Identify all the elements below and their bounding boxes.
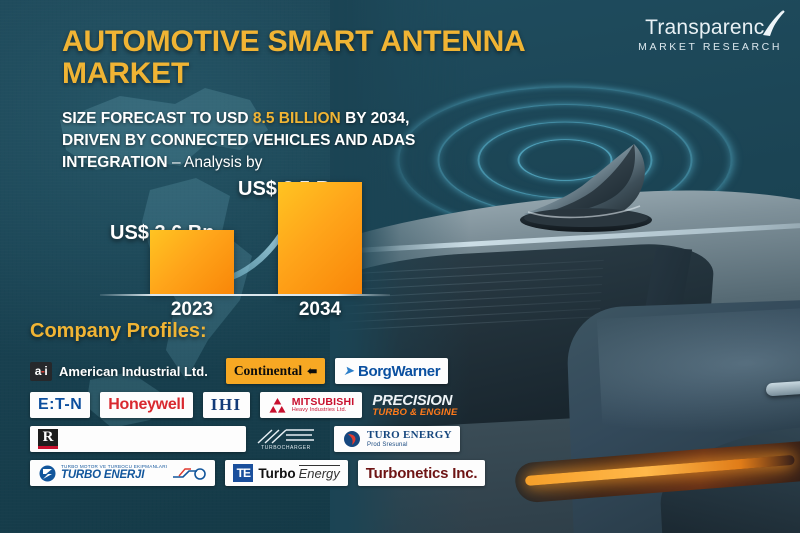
logo-label-borgwarner: BorgWarner [358, 363, 440, 380]
logo-turbo-enerji[interactable]: TURBO MOTOR VE TURBOCU EKIPMANLARI TURBO… [30, 460, 215, 486]
bar-2034 [278, 182, 362, 294]
subtitle-part-1: SIZE FORECAST TO USD [62, 110, 253, 127]
logo-turbonetics[interactable]: Turbonetics Inc. [358, 460, 486, 486]
logo-tte[interactable]: TURBOCHARGER [256, 426, 324, 452]
logo-mitsubishi[interactable]: MITSUBISHI Heavy Industries Ltd. [260, 392, 363, 418]
logo-sub-turbo-energy-2: Energy [299, 465, 340, 481]
logo-honeywell[interactable]: Honeywell [100, 392, 192, 418]
rotomaster-r-icon: R [38, 429, 58, 449]
logo-sub-tte: TURBOCHARGER [261, 446, 311, 451]
x-tick-label-2023: 2023 [150, 299, 234, 321]
logo-sub-turo-energy: Prod Sresunal [367, 442, 452, 448]
swoosh-icon [759, 9, 785, 37]
logo-sub-rotomaster: Turbochargers [63, 426, 238, 452]
logo-precision-turbo[interactable]: PRECISION TURBO & ENGINE [372, 392, 465, 418]
logo-sub-precision: TURBO & ENGINE [372, 408, 457, 418]
logo-label-american-industrial: American Industrial Ltd. [59, 364, 208, 379]
tte-turbine-icon [256, 428, 316, 445]
x-tick-label-2034: 2034 [278, 299, 362, 321]
logo-continental[interactable]: Continental ➠ [226, 358, 325, 384]
tmr-logo-wordmark: Transparency [638, 16, 782, 40]
logo-label-turbo-enerji: TURBO ENERJI [61, 470, 167, 482]
logo-sub-mitsubishi: Heavy Industries Ltd. [292, 408, 355, 414]
logo-borgwarner[interactable]: ➤ BorgWarner [335, 358, 448, 384]
tmr-logo-name: Transparenc [645, 16, 764, 39]
logo-label-turbonetics: Turbonetics Inc. [366, 465, 478, 482]
borgwarner-mark-icon: ➤ [343, 363, 354, 379]
company-profiles-heading: Company Profiles: [30, 320, 207, 343]
company-logo-list: a-i American Industrial Ltd. Continental… [30, 358, 500, 486]
page-subtitle: SIZE FORECAST TO USD 8.5 BILLION BY 2034… [62, 108, 422, 174]
bar-2023 [150, 230, 234, 294]
logo-rotomaster[interactable]: R Rotomaster Turbochargers [30, 426, 246, 452]
subtitle-highlight: 8.5 BILLION [253, 110, 341, 127]
logo-ihi[interactable]: IHI [203, 392, 250, 418]
logo-label-turo-energy: TURO ENERGY [367, 430, 452, 442]
logo-label-ihi: IHI [211, 395, 242, 415]
continental-horse-icon: ➠ [307, 364, 317, 379]
market-size-bar-chart: US$ 8.5 Bn US$ 3.6 Bn 2023 2034 [100, 178, 390, 323]
page-title: AUTOMOTIVE SMART ANTENNA MARKET [62, 26, 582, 91]
logo-turbo-energy[interactable]: TE Turbo Energy [225, 460, 347, 486]
logo-label-turbo-energy: Turbo [258, 466, 295, 481]
infographic-poster: Transparency MARKET RESEARCH AUTOMOTIVE … [0, 0, 800, 533]
logo-label-precision: PRECISION [372, 393, 452, 408]
turbo-enerji-icon [38, 465, 57, 482]
chart-baseline [100, 294, 390, 297]
logo-label-eaton: E:T-N [38, 396, 82, 414]
tmr-logo: Transparency MARKET RESEARCH [638, 16, 782, 53]
logo-turo-energy[interactable]: TURO ENERGY Prod Sresunal [334, 426, 460, 452]
turo-energy-icon [342, 430, 362, 448]
logo-american-industrial[interactable]: a-i American Industrial Ltd. [30, 358, 216, 384]
subtitle-part-3: – Analysis by [172, 154, 262, 171]
logo-label-continental: Continental [234, 363, 302, 379]
logo-eaton[interactable]: E:T-N [30, 392, 90, 418]
turbo-enerji-vehicle-icon [171, 465, 207, 481]
turbo-energy-te-icon: TE [233, 464, 253, 482]
tmr-logo-tagline: MARKET RESEARCH [638, 41, 782, 53]
logo-label-honeywell: Honeywell [108, 396, 184, 414]
mitsubishi-diamonds-icon [268, 397, 287, 414]
american-industrial-icon: a-i [30, 362, 52, 381]
logo-label-mitsubishi: MITSUBISHI [292, 397, 355, 408]
